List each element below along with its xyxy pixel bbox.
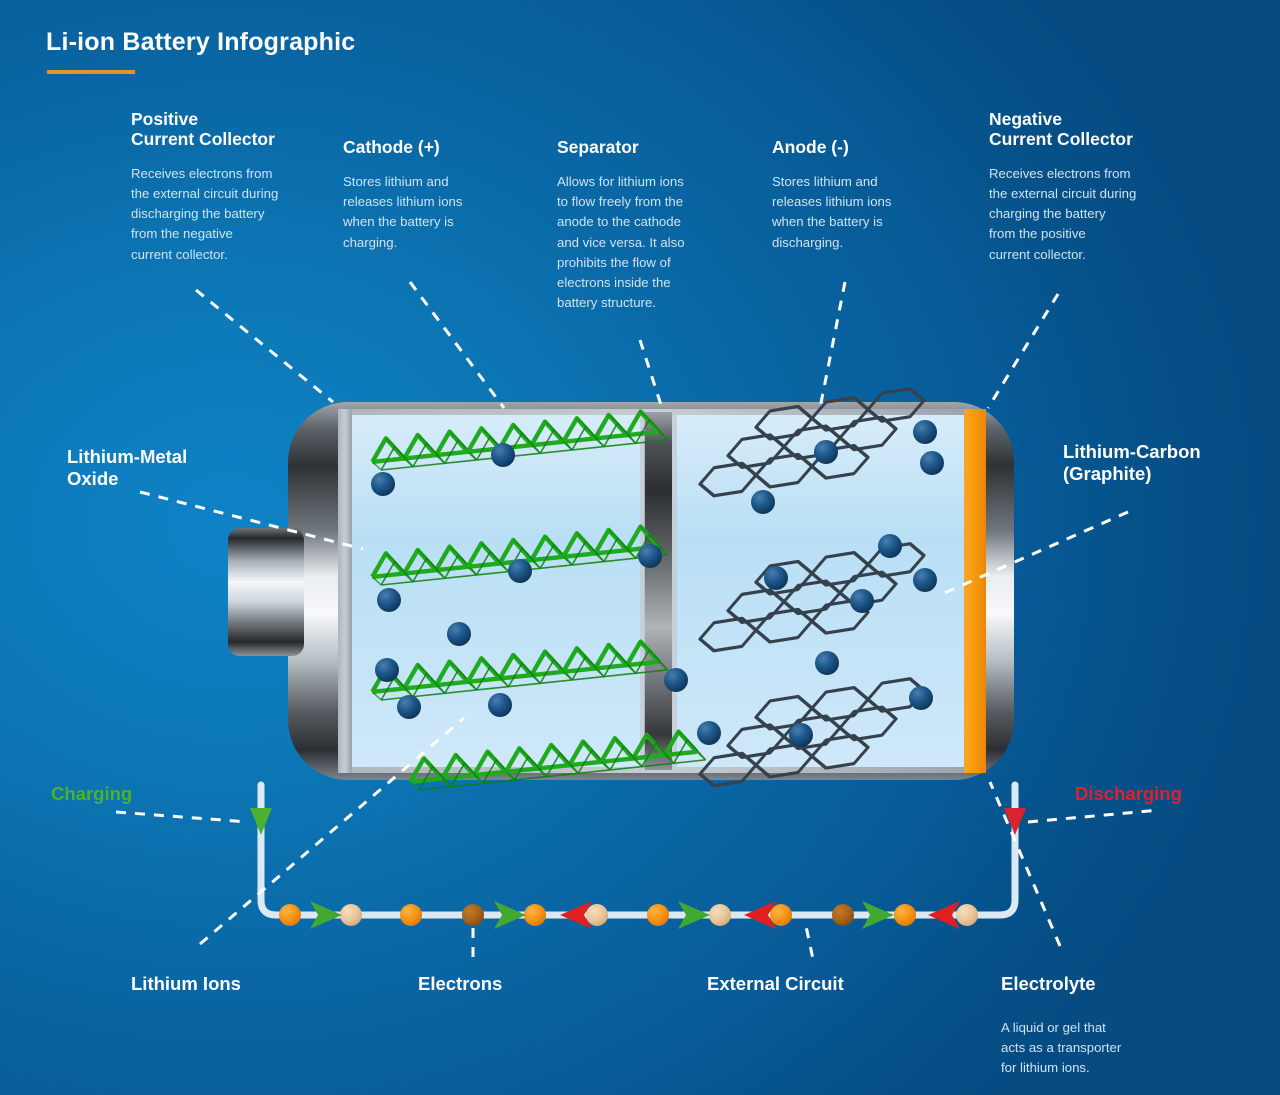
negative-current-collector-strip: [964, 409, 986, 773]
battery-positive-terminal: [228, 528, 304, 656]
cathode-lattice-group: [370, 409, 706, 791]
label-body: Receives electrons from the external cir…: [989, 164, 1194, 265]
label-lithium-ions: Lithium Ions: [131, 973, 241, 995]
charging-arrow-icon: [250, 808, 272, 835]
label-discharging: Discharging: [1075, 783, 1182, 805]
label-body: Receives electrons from the external cir…: [131, 164, 327, 265]
circuit-forward-arrows: [310, 901, 894, 929]
label-cathode: Cathode (+) Stores lithium and releases …: [343, 138, 529, 253]
label-body: Stores lithium and releases lithium ions…: [343, 172, 529, 253]
electrolyte-note: A liquid or gel that acts as a transport…: [1001, 1018, 1181, 1079]
label-external-circuit: External Circuit: [707, 973, 844, 995]
discharging-arrow-icon: [1004, 808, 1026, 835]
label-heading: Negative Current Collector: [989, 110, 1194, 150]
page-title: Li-ion Battery Infographic: [46, 28, 355, 57]
label-electrolyte: Electrolyte: [1001, 973, 1096, 995]
label-lithium-metal-oxide: Lithium-Metal Oxide: [67, 446, 187, 490]
label-heading: Anode (-): [772, 138, 958, 158]
label-charging: Charging: [51, 783, 132, 805]
label-lithium-carbon-graphite: Lithium-Carbon (Graphite): [1063, 441, 1201, 485]
separator-membrane: [644, 412, 672, 770]
label-positive-current-collector: Positive Current Collector Receives elec…: [131, 110, 327, 265]
label-negative-current-collector: Negative Current Collector Receives elec…: [989, 110, 1194, 265]
battery-casing: [288, 402, 1014, 780]
label-body: Allows for lithium ions to flow freely f…: [557, 172, 743, 313]
label-heading: Separator: [557, 138, 743, 158]
label-anode: Anode (-) Stores lithium and releases li…: [772, 138, 958, 253]
label-separator: Separator Allows for lithium ions to flo…: [557, 138, 743, 313]
external-circuit-wire: [261, 785, 1015, 915]
label-heading: Cathode (+): [343, 138, 529, 158]
title-underline: [47, 70, 135, 74]
electrolyte-chamber: [348, 415, 978, 767]
circuit-reverse-arrows: [560, 901, 960, 929]
lithium-ion-spheres: [371, 420, 944, 747]
anode-graphene-group: [700, 387, 924, 788]
positive-current-collector-strip: [338, 409, 352, 773]
infographic-canvas: Li-ion Battery Infographic Positive Curr…: [0, 0, 1280, 1095]
leader-lines: [116, 282, 1160, 962]
label-body: Stores lithium and releases lithium ions…: [772, 172, 958, 253]
circuit-particles: [279, 904, 978, 926]
label-heading: Positive Current Collector: [131, 110, 327, 150]
label-electrons: Electrons: [418, 973, 502, 995]
